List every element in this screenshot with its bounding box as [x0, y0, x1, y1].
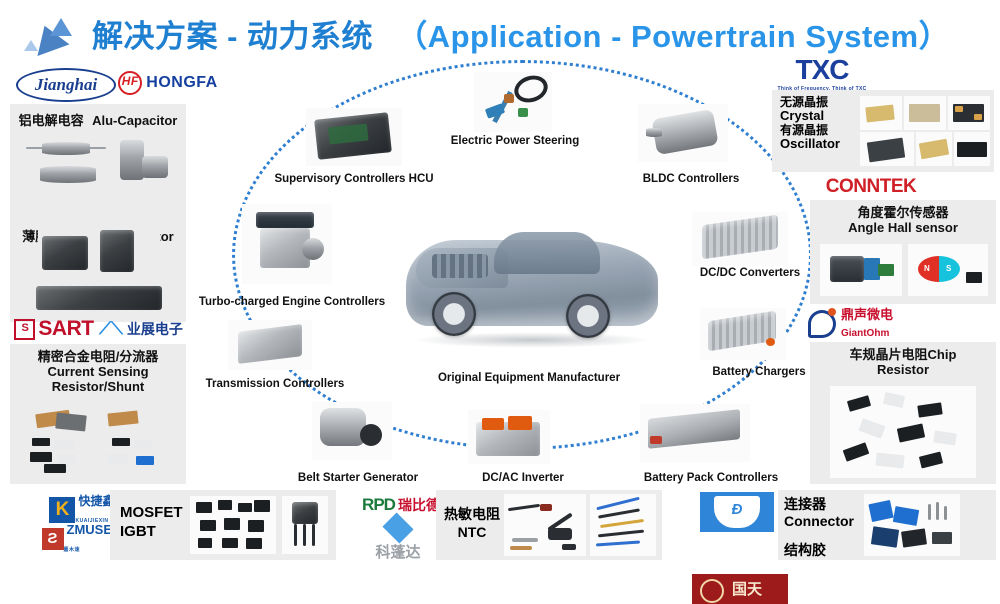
inverter-hv-connector-1 — [482, 418, 504, 430]
film-cap-box-2 — [100, 230, 134, 272]
mos-4 — [254, 500, 270, 512]
oscillator-photo-1 — [860, 132, 914, 166]
oscillator-cn: 有源晶振 — [780, 124, 856, 137]
chipres-caption-cn: 车规晶片电阻Chip — [810, 348, 996, 363]
conn-part-2 — [893, 506, 919, 526]
crystal-photo-1 — [860, 96, 902, 130]
dcac-photo — [468, 410, 550, 464]
brand-logo-yezhan: ⟋⟍ 业展电子 — [96, 318, 186, 340]
giantohm-cn: 鼎声微电 — [841, 307, 893, 322]
chip-res-8 — [108, 454, 128, 464]
film-cap-box-1 — [42, 236, 88, 270]
connector-photo — [864, 494, 960, 556]
panel-resistor-shunt: 精密合金电阻/分流器 Current Sensing Resistor/Shun… — [10, 344, 186, 484]
car-front-wheel — [432, 292, 476, 336]
cr-5 — [897, 423, 925, 442]
shunt-strip-3 — [107, 410, 138, 426]
kelengda-diamond-icon — [382, 512, 413, 543]
ntc-captions: 热敏电阻 NTC — [442, 506, 502, 541]
slide-root: 解决方案 - 动力系统 （Application - Powertrain Sy… — [0, 0, 1000, 562]
node-label-eps: Electric Power Steering — [438, 135, 592, 147]
ntc-photo-2 — [590, 494, 656, 556]
panel-connector-adhesive: 连接器 Connector 结构胶 — [778, 490, 996, 560]
oscillator-en: Oscillator — [780, 137, 856, 152]
cap-radial-1 — [120, 140, 144, 180]
charger-connector — [766, 338, 775, 346]
cr-9 — [919, 452, 943, 469]
shunt-strip-2 — [55, 412, 87, 431]
node-label-dcdc: DC/DC Converters — [688, 267, 812, 279]
mos-10 — [246, 538, 262, 549]
connector-label-en: Connector — [784, 513, 854, 530]
cr-8 — [875, 453, 904, 469]
ntc-housing — [548, 528, 572, 540]
ntc-wire-blk-2 — [598, 530, 644, 538]
hongfa-hf-icon: HF — [118, 71, 142, 95]
oscillator-photo-3 — [954, 132, 990, 166]
sart-mark-icon: S — [14, 319, 35, 340]
kelengda-cn: 科蓬达 — [375, 541, 420, 562]
connector-captions: 连接器 Connector 结构胶 — [784, 496, 854, 558]
chip-res-1 — [32, 438, 50, 446]
brand-logo-guotian: 国天 — [692, 574, 788, 604]
mos-6 — [224, 518, 240, 530]
igbt-body — [292, 502, 318, 524]
yezhan-wordmark: 业展电子 — [127, 319, 183, 339]
ntc-bead-1 — [540, 504, 552, 511]
cr-1 — [847, 395, 871, 412]
dcdc-photo — [692, 212, 788, 266]
shunt-caption-en1: Current Sensing — [10, 365, 186, 380]
conn-pin-3 — [944, 506, 947, 520]
brand-logo-kelengda: 科蓬达 — [352, 518, 444, 562]
transmission-controller — [238, 324, 302, 364]
crystal-pkg-2 — [909, 104, 940, 122]
mos-1 — [196, 502, 212, 513]
alu-capacitor-cn: 铝电解电容 — [19, 113, 84, 128]
capacitor-module — [36, 286, 162, 310]
rpd-wordmark: RPD — [362, 495, 395, 515]
hall-ic — [966, 272, 982, 283]
turbocharger — [302, 238, 324, 260]
eps-photo — [474, 72, 552, 132]
shunt-caption-en2: Resistor/Shunt — [10, 380, 186, 395]
shunt-component-photos — [26, 410, 172, 476]
kuaijiexin-k-icon: K — [49, 497, 75, 523]
brand-logo-sart: S SART — [12, 318, 96, 340]
mos-2 — [218, 500, 232, 510]
chipres-caption-en: Resistor — [810, 363, 996, 378]
mosfet-photo — [190, 496, 276, 554]
conntek-wordmark: CONNTEK — [826, 176, 916, 198]
connector-d-icon: Ɖ — [732, 501, 743, 518]
bpc-photo — [640, 404, 750, 462]
panel-crystal-oscillator: 无源晶振 Crystal 有源晶振 Oscillator — [772, 90, 994, 172]
igbt-photo — [282, 496, 328, 554]
brand-logo-jianghai: Jianghai — [16, 68, 116, 102]
hall-motor-body — [830, 256, 864, 282]
mos-7 — [248, 520, 264, 532]
bldc-photo — [638, 104, 728, 162]
hall-magnet-photo: N S — [908, 244, 988, 296]
transmission-photo — [228, 320, 312, 370]
magnet-n-label: N — [924, 264, 930, 273]
cap-axial-2 — [40, 166, 96, 183]
crystal-pad-2 — [974, 114, 982, 120]
panel-chip-resistor: 车规晶片电阻Chip Resistor — [810, 342, 996, 484]
conn-part-3 — [871, 526, 899, 547]
igbt-label: IGBT — [120, 523, 183, 542]
adhesive-label-cn: 结构胶 — [784, 542, 854, 559]
crystal-photo-2 — [904, 96, 946, 130]
bsg-pulley — [360, 424, 382, 446]
sart-wordmark: SART — [38, 317, 93, 341]
giantohm-swirl-icon — [808, 310, 836, 338]
oem-label: Original Equipment Manufacturer — [424, 372, 634, 384]
txc-wordmark: TXC — [796, 54, 849, 86]
conn-pin-2 — [936, 502, 939, 520]
magnet-s-label: S — [946, 264, 951, 273]
ntc-wire-gold — [600, 519, 644, 528]
bsg-photo — [312, 402, 392, 460]
steering-wheel-icon — [511, 72, 551, 107]
ntc-tip — [562, 544, 576, 550]
alu-capacitor-en: Alu-Capacitor — [92, 113, 177, 128]
eps-coupler — [504, 94, 514, 103]
oscillator-pkg-3 — [957, 142, 987, 157]
chip-res-2 — [54, 440, 74, 449]
slide-header: 解决方案 - 动力系统 （Application - Powertrain Sy… — [0, 6, 1000, 60]
battery-terminal — [650, 436, 662, 444]
crystal-pkg-1 — [865, 105, 894, 123]
alu-capacitor-photos — [24, 136, 174, 194]
zmusemi-e-icon: Ƨ — [42, 528, 64, 550]
cap-radial-2 — [142, 156, 168, 178]
panel-mosfet-igbt: MOSFET IGBT — [110, 490, 336, 560]
mos-5 — [200, 520, 216, 531]
chip-res-7 — [134, 440, 152, 449]
capacitor-module-photo — [32, 280, 168, 316]
crystal-photo-3 — [948, 96, 990, 130]
cr-7 — [843, 442, 870, 461]
panel-angle-hall-sensor: 角度霍尔传感器 Angle Hall sensor N S — [810, 200, 996, 304]
guotian-seal-icon — [700, 579, 724, 603]
mosfet-label: MOSFET — [120, 504, 183, 523]
ntc-label-cn: 热敏电阻 — [442, 506, 502, 524]
inverter-hv-connector-2 — [508, 416, 532, 430]
rpd-cn: 瑞比德 — [398, 495, 440, 515]
ntc-ring-1 — [512, 538, 538, 542]
cap-lead-right — [88, 147, 106, 149]
node-label-bpc: Battery Pack Controllers — [628, 472, 794, 484]
ntc-wire-blue-1 — [596, 497, 639, 511]
eps-sensor — [518, 108, 528, 117]
ntc-lead-1 — [508, 504, 540, 511]
cap-lead-left — [26, 147, 44, 149]
brand-logo-conntek: CONNTEK — [816, 176, 926, 198]
chip-res-5 — [44, 464, 66, 473]
mos-9 — [222, 538, 238, 548]
cr-6 — [933, 431, 956, 446]
oem-car-illustration — [398, 214, 666, 364]
car-engine — [432, 254, 488, 278]
hall-caption-cn: 角度霍尔传感器 — [810, 206, 996, 221]
conn-part-4 — [901, 528, 927, 547]
ntc-wire-blue-2 — [596, 540, 640, 546]
brand-logo-txc: TXC Think of Frequency, Think of TXC — [778, 58, 866, 88]
node-label-turbo: Turbo-charged Engine Controllers — [186, 296, 398, 308]
chip-res-6 — [112, 438, 130, 446]
oscillator-pkg-2 — [919, 139, 949, 160]
chip-res-9 — [136, 456, 154, 465]
dcdc-converter — [702, 215, 778, 260]
chip-resistor-photo — [830, 386, 976, 478]
engine-cover — [256, 212, 314, 228]
alu-capacitor-caption: 铝电解电容 Alu-Capacitor — [10, 112, 186, 130]
conn-part-5 — [932, 532, 952, 544]
igbt-pin-1 — [294, 524, 297, 546]
zmusemi-cn: 嘉木速 — [64, 547, 81, 553]
mos-8 — [198, 538, 212, 548]
node-label-transmission: Transmission Controllers — [196, 378, 354, 390]
cr-2 — [883, 392, 905, 408]
crystal-pad-1 — [955, 106, 963, 112]
car-rear-wheel — [566, 294, 610, 338]
chip-res-4 — [58, 454, 76, 463]
brand-logo-giantohm: 鼎声微电 GiantOhm — [808, 310, 938, 338]
node-label-hcu: Supervisory Controllers HCU — [258, 173, 450, 185]
triangle-small-icon — [24, 40, 38, 51]
node-label-dcac: DC/AC Inverter — [472, 472, 574, 484]
guotian-cn: 国天 — [732, 578, 762, 599]
hall-pcb — [878, 264, 894, 276]
jianghai-wordmark: Jianghai — [35, 75, 97, 95]
igbt-pin-2 — [303, 524, 306, 546]
triangle-logo — [24, 13, 80, 53]
brand-logo-hongfa: HF HONGFA — [118, 70, 218, 96]
node-label-charger: Battery Chargers — [706, 366, 812, 378]
node-label-bldc: BLDC Controllers — [628, 173, 754, 185]
page-title-en: （Application - Powertrain System） — [396, 19, 950, 54]
page-title-cn: 解决方案 - 动力系统 — [92, 19, 373, 54]
bldc-shaft — [646, 128, 662, 137]
hcu-photo — [306, 108, 402, 166]
conn-part-1 — [868, 500, 893, 522]
ntc-label-en: NTC — [442, 524, 502, 542]
ntc-ring-2 — [510, 546, 532, 550]
node-label-bsg: Belt Starter Generator — [288, 472, 428, 484]
panel-capacitor: 铝电解电容 Alu-Capacitor 薄膜电容 Film-Capacitor — [10, 104, 186, 322]
film-capacitor-photos — [38, 226, 160, 278]
turbo-photo — [242, 204, 332, 284]
oscillator-photo-2 — [916, 132, 952, 166]
cap-axial-1 — [42, 142, 90, 155]
hcu-device — [314, 112, 392, 160]
crystal-captions: 无源晶振 Crystal 有源晶振 Oscillator — [780, 96, 856, 152]
cr-3 — [917, 402, 942, 417]
giantohm-en: GiantOhm — [841, 328, 889, 339]
car-cabin — [494, 232, 600, 274]
igbt-pin-3 — [312, 524, 315, 546]
conn-pin-1 — [928, 504, 931, 520]
mosfet-captions: MOSFET IGBT — [120, 504, 183, 542]
page-title: 解决方案 - 动力系统 （Application - Powertrain Sy… — [92, 11, 950, 56]
oscillator-pkg-1 — [867, 138, 905, 163]
charger-photo — [700, 308, 786, 360]
hongfa-wordmark: HONGFA — [146, 74, 217, 92]
shunt-caption-cn: 精密合金电阻/分流器 — [10, 350, 186, 365]
mos-3 — [238, 503, 252, 512]
battery-charger — [708, 311, 776, 352]
crystal-cn: 无源晶振 — [780, 96, 856, 109]
ntc-wire-blk-1 — [598, 508, 640, 518]
bottom-supplier-strip: K 快捷鑫 KUAIJIEXIN Ƨ ZMUSEMI 嘉木速 MOSFET IG… — [0, 488, 1000, 562]
yezhan-mark-icon: ⟋⟍ — [99, 319, 123, 339]
brand-logo-connector: Ɖ — [700, 492, 774, 532]
bsg-motor — [320, 408, 366, 446]
ntc-photo-1 — [504, 494, 586, 556]
hall-motor-photo — [820, 244, 902, 296]
crystal-en: Crystal — [780, 109, 856, 124]
cr-4 — [859, 418, 886, 438]
triangle-medium-icon — [50, 18, 72, 36]
chip-res-3 — [30, 452, 52, 462]
panel-ntc-thermistor: 热敏电阻 NTC — [436, 490, 662, 560]
connector-label-cn: 连接器 — [784, 496, 854, 513]
hall-caption-en: Angle Hall sensor — [810, 221, 996, 236]
